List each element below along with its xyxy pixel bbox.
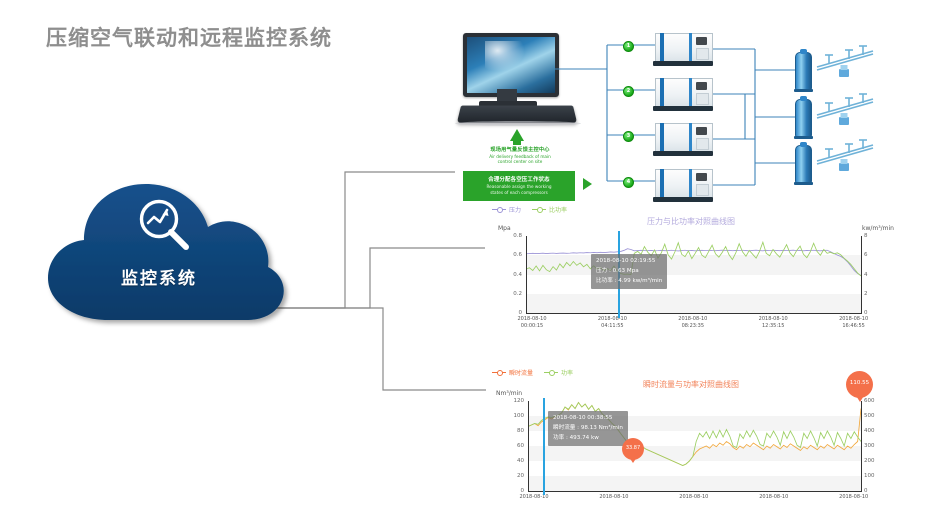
y2-tick: 200 bbox=[864, 458, 884, 464]
x-tick: 2018-08-10 bbox=[599, 494, 628, 501]
chart2-y2-axis-line bbox=[861, 401, 862, 492]
x-tick: 2018-08-10 bbox=[839, 494, 868, 501]
magnifier-chart-icon bbox=[134, 196, 196, 256]
y2-tick: 6 bbox=[864, 252, 884, 258]
chart2-tooltip: 2018-08-10 00:38:55 瞬时流量 : 98.13 Nm³/min… bbox=[548, 411, 628, 446]
usage-pipeline-1 bbox=[815, 45, 877, 79]
legend-marker-pressure-icon bbox=[492, 207, 506, 213]
y2-tick: 100 bbox=[864, 473, 884, 479]
y-tick: 0.6 bbox=[502, 252, 522, 258]
min-value-marker-label: 33.87 bbox=[626, 445, 640, 451]
chart2-title: 瞬时流量与功率对照曲线图 bbox=[486, 379, 896, 390]
legend-label-flow: 瞬时流量 bbox=[509, 368, 533, 377]
series-压力 bbox=[526, 249, 861, 276]
air-tank-3 bbox=[795, 145, 812, 184]
y2-tick: 500 bbox=[864, 413, 884, 419]
legend-item-specific-power[interactable]: 比功率 bbox=[532, 205, 567, 214]
chart1-y-unit: Mpa bbox=[498, 225, 511, 232]
max-value-marker-label: 110.55 bbox=[850, 380, 869, 386]
legend-item-flow[interactable]: 瞬时流量 bbox=[492, 368, 533, 377]
chart1-tooltip-line1: 压力 : 0.63 Mpa bbox=[596, 267, 662, 277]
x-tick: 2018-08-10 bbox=[519, 494, 548, 501]
air-compressor-2 bbox=[655, 78, 711, 111]
air-compressor-1 bbox=[655, 33, 711, 66]
y2-tick: 8 bbox=[864, 233, 884, 239]
air-tank-1 bbox=[795, 52, 812, 91]
chart2-tooltip-timestamp: 2018-08-10 00:38:55 bbox=[553, 414, 623, 424]
legend-label-specific-power: 比功率 bbox=[549, 205, 567, 214]
y2-tick: 600 bbox=[864, 398, 884, 404]
y2-tick: 300 bbox=[864, 443, 884, 449]
x-tick: 2018-08-10 bbox=[759, 494, 788, 501]
cloud-label: 监控系统 bbox=[30, 264, 288, 289]
legend-label-power: 功率 bbox=[561, 368, 573, 377]
y-tick: 20 bbox=[504, 473, 524, 479]
chart2-legend[interactable]: 瞬时流量 功率 bbox=[492, 368, 573, 377]
chart1-y2-unit: kw/m³/min bbox=[862, 225, 894, 232]
chart1-plot-area[interactable] bbox=[526, 236, 861, 313]
y2-tick: 4 bbox=[864, 272, 884, 278]
legend-marker-power-icon bbox=[544, 370, 558, 376]
system-topology-diagram: 现场用气量反馈主控中心 Air delivery feedback of mai… bbox=[455, 25, 935, 205]
x-tick: 2018-08-1004:11:55 bbox=[598, 316, 627, 330]
air-compressor-3 bbox=[655, 123, 711, 156]
chart2-cursor-line bbox=[543, 398, 545, 495]
y-tick: 0.8 bbox=[502, 233, 522, 239]
legend-marker-specific-power-icon bbox=[532, 207, 546, 213]
status-node-1: 1 bbox=[623, 41, 634, 52]
chart1-legend[interactable]: 压力 比功率 bbox=[492, 205, 567, 214]
chart1-tooltip-line2: 比功率 : 4.99 kw/m³/min bbox=[596, 277, 662, 287]
legend-marker-flow-icon bbox=[492, 370, 506, 376]
chart1-x-axis-line bbox=[526, 313, 862, 314]
air-tank-2 bbox=[795, 99, 812, 138]
y2-tick: 2 bbox=[864, 291, 884, 297]
legend-item-power[interactable]: 功率 bbox=[544, 368, 573, 377]
y2-tick: 400 bbox=[864, 428, 884, 434]
y-tick: 40 bbox=[504, 458, 524, 464]
y-tick: 0.4 bbox=[502, 272, 522, 278]
legend-item-pressure[interactable]: 压力 bbox=[492, 205, 521, 214]
min-value-marker[interactable]: 33.87 bbox=[622, 438, 644, 460]
y-tick: 80 bbox=[504, 428, 524, 434]
chart2-y-axis-line bbox=[528, 401, 529, 492]
chart1-title: 压力与比功率对照曲线图 bbox=[486, 216, 896, 227]
usage-pipeline-3 bbox=[815, 139, 877, 173]
x-tick: 2018-08-1008:23:35 bbox=[678, 316, 707, 330]
page-title: 压缩空气联动和远程监控系统 bbox=[46, 22, 332, 52]
x-tick: 2018-08-1012:35:15 bbox=[759, 316, 788, 330]
x-tick: 2018-08-10 bbox=[679, 494, 708, 501]
chart1-tooltip-timestamp: 2018-08-10 02:19:55 bbox=[596, 257, 662, 267]
chart1-y2-axis-line bbox=[861, 236, 862, 314]
series-canvas bbox=[526, 236, 861, 313]
pressure-vs-specific-power-chart[interactable]: 压力 比功率 压力与比功率对照曲线图 Mpa kw/m³/min 0.80.60… bbox=[486, 205, 896, 335]
series-比功率 bbox=[526, 242, 861, 276]
legend-label-pressure: 压力 bbox=[509, 205, 521, 214]
flow-vs-power-chart[interactable]: 瞬时流量 功率 瞬时流量与功率对照曲线图 Nm³/min 12010080604… bbox=[486, 368, 896, 518]
y-tick: 60 bbox=[504, 443, 524, 449]
status-node-3: 3 bbox=[623, 131, 634, 142]
chart2-y-unit: Nm³/min bbox=[496, 390, 522, 397]
status-node-4: 4 bbox=[623, 177, 634, 188]
y-tick: 100 bbox=[504, 413, 524, 419]
chart2-x-axis-line bbox=[528, 491, 862, 492]
y-tick: 0.2 bbox=[502, 291, 522, 297]
chart2-tooltip-line1: 瞬时流量 : 98.13 Nm³/min bbox=[553, 424, 623, 434]
max-value-marker[interactable]: 110.55 bbox=[846, 371, 873, 398]
status-node-2: 2 bbox=[623, 86, 634, 97]
x-tick: 2018-08-1016:46:55 bbox=[839, 316, 868, 330]
y-tick: 120 bbox=[504, 398, 524, 404]
chart2-tooltip-line2: 功率 : 493.74 kw bbox=[553, 434, 623, 444]
air-compressor-4 bbox=[655, 169, 711, 202]
chart1-tooltip: 2018-08-10 02:19:55 压力 : 0.63 Mpa 比功率 : … bbox=[591, 254, 667, 289]
x-tick: 2018-08-1000:00:15 bbox=[517, 316, 546, 330]
chart1-y-axis-line bbox=[526, 236, 527, 314]
usage-pipeline-2 bbox=[815, 93, 877, 127]
monitoring-cloud[interactable]: 监控系统 bbox=[30, 178, 296, 328]
